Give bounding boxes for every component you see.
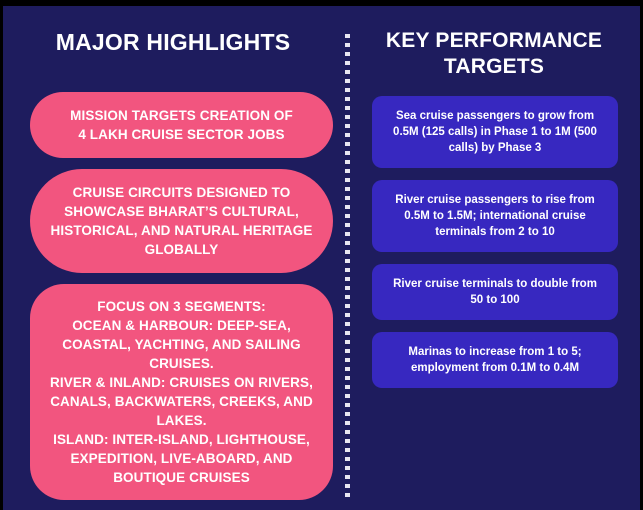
- pill-line: CRUISES.: [42, 354, 321, 373]
- pill-line: BOUTIQUE CRUISES: [42, 468, 321, 487]
- key-performance-targets-heading: KEY PERFORMANCE TARGETS: [348, 28, 640, 80]
- infographic-canvas: MAJOR HIGHLIGHTS MISSION TARGETS CREATIO…: [0, 0, 643, 510]
- pill-line: 4 LAKH CRUISE SECTOR JOBS: [46, 125, 317, 144]
- card-line: Sea cruise passengers to grow from: [385, 108, 605, 124]
- highlight-pill-three-segments: FOCUS ON 3 SEGMENTS: OCEAN & HARBOUR: DE…: [30, 284, 333, 500]
- kpi-card-river-cruise-terminals: River cruise terminals to double from 50…: [372, 264, 618, 320]
- kpi-card-river-cruise-passengers: River cruise passengers to rise from 0.5…: [372, 180, 618, 252]
- heading-line: KEY PERFORMANCE: [386, 29, 602, 52]
- card-line: 0.5M to 1.5M; international cruise: [385, 208, 605, 224]
- pill-line: CRUISE CIRCUITS DESIGNED TO: [46, 183, 317, 202]
- kpi-card-marinas-employment: Marinas to increase from 1 to 5; employm…: [372, 332, 618, 388]
- pill-line: COASTAL, YACHTING, AND SAILING: [42, 335, 321, 354]
- key-performance-targets-column: KEY PERFORMANCE TARGETS Sea cruise passe…: [348, 6, 640, 510]
- heading-line: TARGETS: [444, 55, 544, 78]
- card-line: employment from 0.1M to 0.4M: [385, 360, 605, 376]
- major-highlights-column: MAJOR HIGHLIGHTS MISSION TARGETS CREATIO…: [3, 6, 343, 510]
- card-line: River cruise terminals to double from: [385, 276, 605, 292]
- card-line: River cruise passengers to rise from: [385, 192, 605, 208]
- kpi-card-list: Sea cruise passengers to grow from 0.5M …: [372, 96, 618, 400]
- card-line: terminals from 2 to 10: [385, 224, 605, 240]
- highlights-pill-list: MISSION TARGETS CREATION OF 4 LAKH CRUIS…: [30, 92, 333, 510]
- pill-line: RIVER & INLAND: CRUISES ON RIVERS,: [42, 373, 321, 392]
- highlight-pill-cruise-circuits: CRUISE CIRCUITS DESIGNED TO SHOWCASE BHA…: [30, 169, 333, 273]
- pill-line: ISLAND: INTER-ISLAND, LIGHTHOUSE,: [42, 430, 321, 449]
- pill-line: SHOWCASE BHARAT’S CULTURAL,: [46, 202, 317, 221]
- pill-line: OCEAN & HARBOUR: DEEP-SEA,: [42, 316, 321, 335]
- card-line: 0.5M (125 calls) in Phase 1 to 1M (500: [385, 124, 605, 140]
- card-line: calls) by Phase 3: [385, 140, 605, 156]
- pill-line: MISSION TARGETS CREATION OF: [46, 106, 317, 125]
- pill-line: CANALS, BACKWATERS, CREEKS, AND: [42, 392, 321, 411]
- pill-line: FOCUS ON 3 SEGMENTS:: [42, 297, 321, 316]
- kpi-card-sea-cruise-passengers: Sea cruise passengers to grow from 0.5M …: [372, 96, 618, 168]
- highlight-pill-jobs-target: MISSION TARGETS CREATION OF 4 LAKH CRUIS…: [30, 92, 333, 158]
- major-highlights-heading: MAJOR HIGHLIGHTS: [3, 28, 343, 56]
- pill-line: GLOBALLY: [46, 240, 317, 259]
- card-line: Marinas to increase from 1 to 5;: [385, 344, 605, 360]
- card-line: 50 to 100: [385, 292, 605, 308]
- pill-line: EXPEDITION, LIVE-ABOARD, AND: [42, 449, 321, 468]
- infographic-stage: MAJOR HIGHLIGHTS MISSION TARGETS CREATIO…: [3, 6, 640, 510]
- pill-line: LAKES.: [42, 411, 321, 430]
- pill-line: HISTORICAL, AND NATURAL HERITAGE: [46, 221, 317, 240]
